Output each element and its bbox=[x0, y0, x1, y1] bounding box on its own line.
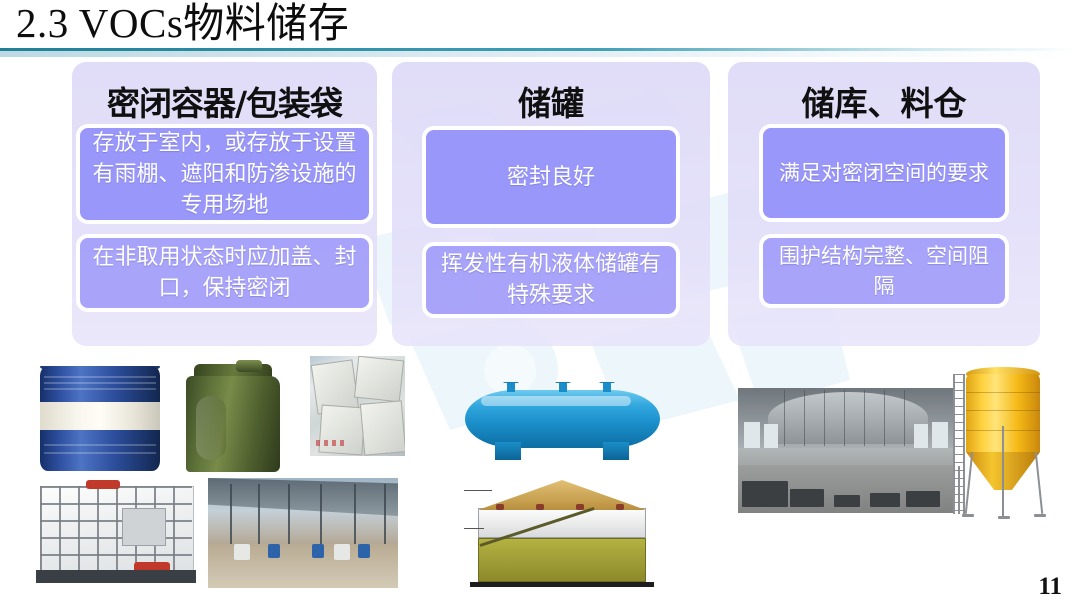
panel-2-item-1-text: 密封良好 bbox=[497, 162, 605, 193]
panel-1-item-1: 存放于室内，或存放于设置有雨棚、遮阳和防渗设施的专用场地 bbox=[76, 124, 373, 224]
panel-1-header: 密闭容器/包装袋 bbox=[72, 62, 377, 124]
panel-3-item-1: 满足对密闭空间的要求 bbox=[759, 124, 1009, 222]
woven-bags-photo bbox=[310, 356, 405, 456]
content-columns: 密闭容器/包装袋 存放于室内，或存放于设置有雨棚、遮阳和防渗设施的专用场地 在非… bbox=[0, 62, 1080, 352]
ibc-tote-photo bbox=[30, 478, 205, 588]
photo-strip bbox=[0, 352, 1080, 607]
panel-1-item-2: 在非取用状态时应加盖、封口，保持密闭 bbox=[76, 234, 373, 312]
panel-2-item-1: 密封良好 bbox=[422, 126, 680, 228]
panel-3-item-1-text: 满足对密闭空间的要求 bbox=[769, 158, 999, 188]
green-jerry-can-photo bbox=[178, 360, 288, 472]
slide-canvas: 2.3 VOCs物料储存 密闭容器/包装袋 存放于室内，或存放于设置有雨棚、遮阳… bbox=[0, 0, 1080, 607]
page-number: 11 bbox=[1038, 573, 1062, 601]
storage-tank-cutaway-diagram bbox=[462, 478, 662, 590]
panel-3-item-2-text: 围护结构完整、空间阻隔 bbox=[763, 241, 1005, 301]
panel-3-header: 储库、料仓 bbox=[728, 62, 1040, 124]
panel-2-item-2-text: 挥发性有机液体储罐有特殊要求 bbox=[426, 249, 676, 311]
open-shed-storage-photo bbox=[208, 478, 398, 588]
page-title: 2.3 VOCs物料储存 bbox=[16, 0, 349, 48]
title-bar: 2.3 VOCs物料储存 bbox=[0, 0, 1080, 58]
blue-horizontal-pressure-tank-photo bbox=[455, 382, 670, 462]
panel-3-item-2: 围护结构完整、空间阻隔 bbox=[759, 234, 1009, 308]
steel-drum-photo bbox=[40, 366, 160, 471]
title-rule-fade bbox=[0, 51, 1080, 57]
panel-sealed-containers: 密闭容器/包装袋 存放于室内，或存放于设置有雨棚、遮阳和防渗设施的专用场地 在非… bbox=[72, 62, 377, 346]
panel-2-header: 储罐 bbox=[392, 62, 710, 124]
panel-1-item-2-text: 在非取用状态时应加盖、封口，保持密闭 bbox=[80, 242, 369, 304]
panel-2-item-2: 挥发性有机液体储罐有特殊要求 bbox=[422, 242, 680, 318]
panel-storage-tank: 储罐 密封良好 挥发性有机液体储罐有特殊要求 bbox=[392, 62, 710, 346]
yellow-silo-photo bbox=[950, 366, 1055, 531]
panel-1-item-1-text: 存放于室内，或存放于设置有雨棚、遮阳和防渗设施的专用场地 bbox=[80, 128, 369, 221]
warehouse-interior-photo bbox=[738, 388, 953, 513]
panel-warehouse-silo: 储库、料仓 满足对密闭空间的要求 围护结构完整、空间阻隔 bbox=[728, 62, 1040, 346]
